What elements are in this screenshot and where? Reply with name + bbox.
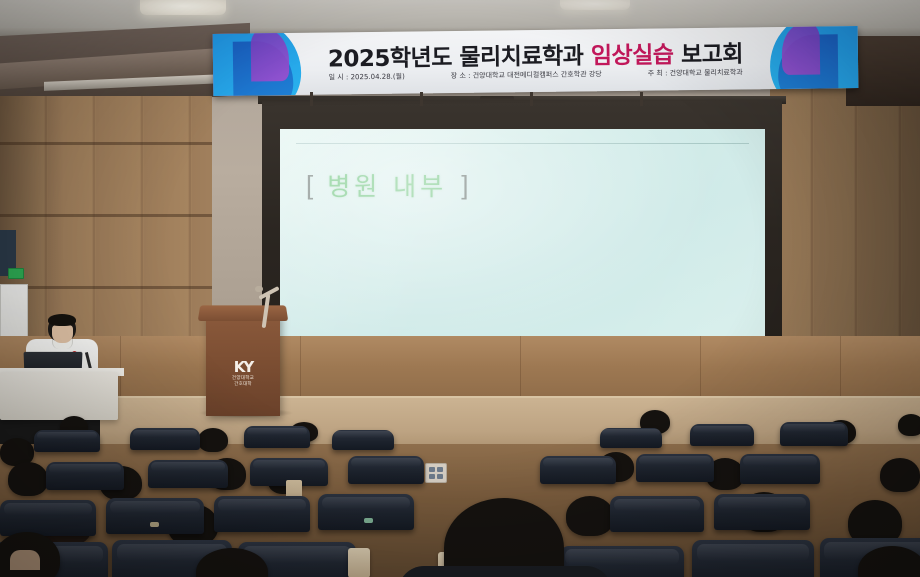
banner-title-part2: 보고회 — [673, 41, 743, 68]
seat[interactable] — [348, 456, 424, 484]
bracket-left: [ — [306, 172, 313, 198]
seat-number-tag — [364, 518, 373, 523]
seat[interactable] — [34, 430, 100, 452]
slide-title: [ 병원 내부 ] — [306, 165, 546, 205]
microphone-icon — [255, 286, 263, 292]
podium-logo-line2: 간호대학 — [224, 382, 262, 388]
seat[interactable] — [740, 454, 820, 484]
podium-top-surface — [198, 305, 289, 321]
banner-place: 장 소 : 건양대학교 대전메디컬캠퍼스 간호학관 강당 — [451, 69, 602, 81]
event-banner: 2025학년도 물리치료학과 임상실습 보고회 일 시 : 2025.04.28… — [213, 26, 859, 96]
auditorium-photo: [ 병원 내부 ] 건양대학교 병원 본관 - 운동, 기능, 전기 신관 - … — [0, 0, 920, 577]
seat[interactable] — [780, 422, 848, 446]
banner-date: 일 시 : 2025.04.28.(월) — [329, 72, 405, 83]
audience-seating — [0, 400, 920, 577]
seat[interactable] — [540, 456, 616, 484]
seat-number-tag — [150, 522, 159, 527]
banner-mount — [530, 92, 533, 106]
seat[interactable] — [690, 424, 754, 446]
seat[interactable] — [130, 428, 200, 450]
bracket-right: ] — [461, 172, 468, 198]
wood-wall-left — [0, 96, 212, 336]
seat[interactable] — [318, 494, 414, 530]
audience-head — [898, 414, 920, 436]
seat[interactable] — [610, 496, 704, 532]
banner-mount — [640, 92, 643, 106]
seat[interactable] — [148, 460, 228, 488]
audience-head — [8, 462, 48, 496]
seat[interactable] — [0, 500, 96, 536]
seat[interactable] — [332, 430, 394, 450]
podium-logo-mark: KY — [224, 358, 262, 376]
slide-title-text: 병원 내부 — [327, 167, 447, 203]
exit-sign-icon — [8, 268, 24, 279]
seat[interactable] — [46, 462, 124, 490]
presenter-face — [52, 325, 73, 343]
banner-mount — [420, 92, 423, 106]
seat[interactable] — [636, 454, 714, 482]
banner-mount — [310, 92, 313, 106]
banner-title-part1: 2025학년도 물리치료학과 — [328, 43, 591, 72]
seat[interactable] — [214, 496, 310, 532]
audience-head — [880, 458, 920, 492]
seat-armrest — [348, 548, 370, 577]
ceiling-light-icon — [140, 0, 226, 15]
audience-head — [198, 428, 228, 452]
seat[interactable] — [714, 494, 810, 530]
podium-logo: KY 건양대학교 간호대학 — [224, 358, 262, 388]
seat[interactable] — [600, 428, 662, 448]
banner-host: 주 최 : 건양대학교 물리치료학과 — [648, 67, 743, 78]
banner-title-highlight: 임상실습 — [591, 42, 674, 69]
seat[interactable] — [692, 540, 814, 577]
foreground-audience-shoulders — [398, 566, 612, 577]
seat[interactable] — [244, 426, 310, 448]
audience-neck — [10, 550, 40, 570]
seat[interactable] — [106, 498, 204, 534]
audience-head — [566, 496, 614, 536]
ceiling-light-icon — [560, 0, 630, 10]
presenter-hair — [48, 314, 76, 326]
slide-rule-top — [296, 143, 749, 144]
